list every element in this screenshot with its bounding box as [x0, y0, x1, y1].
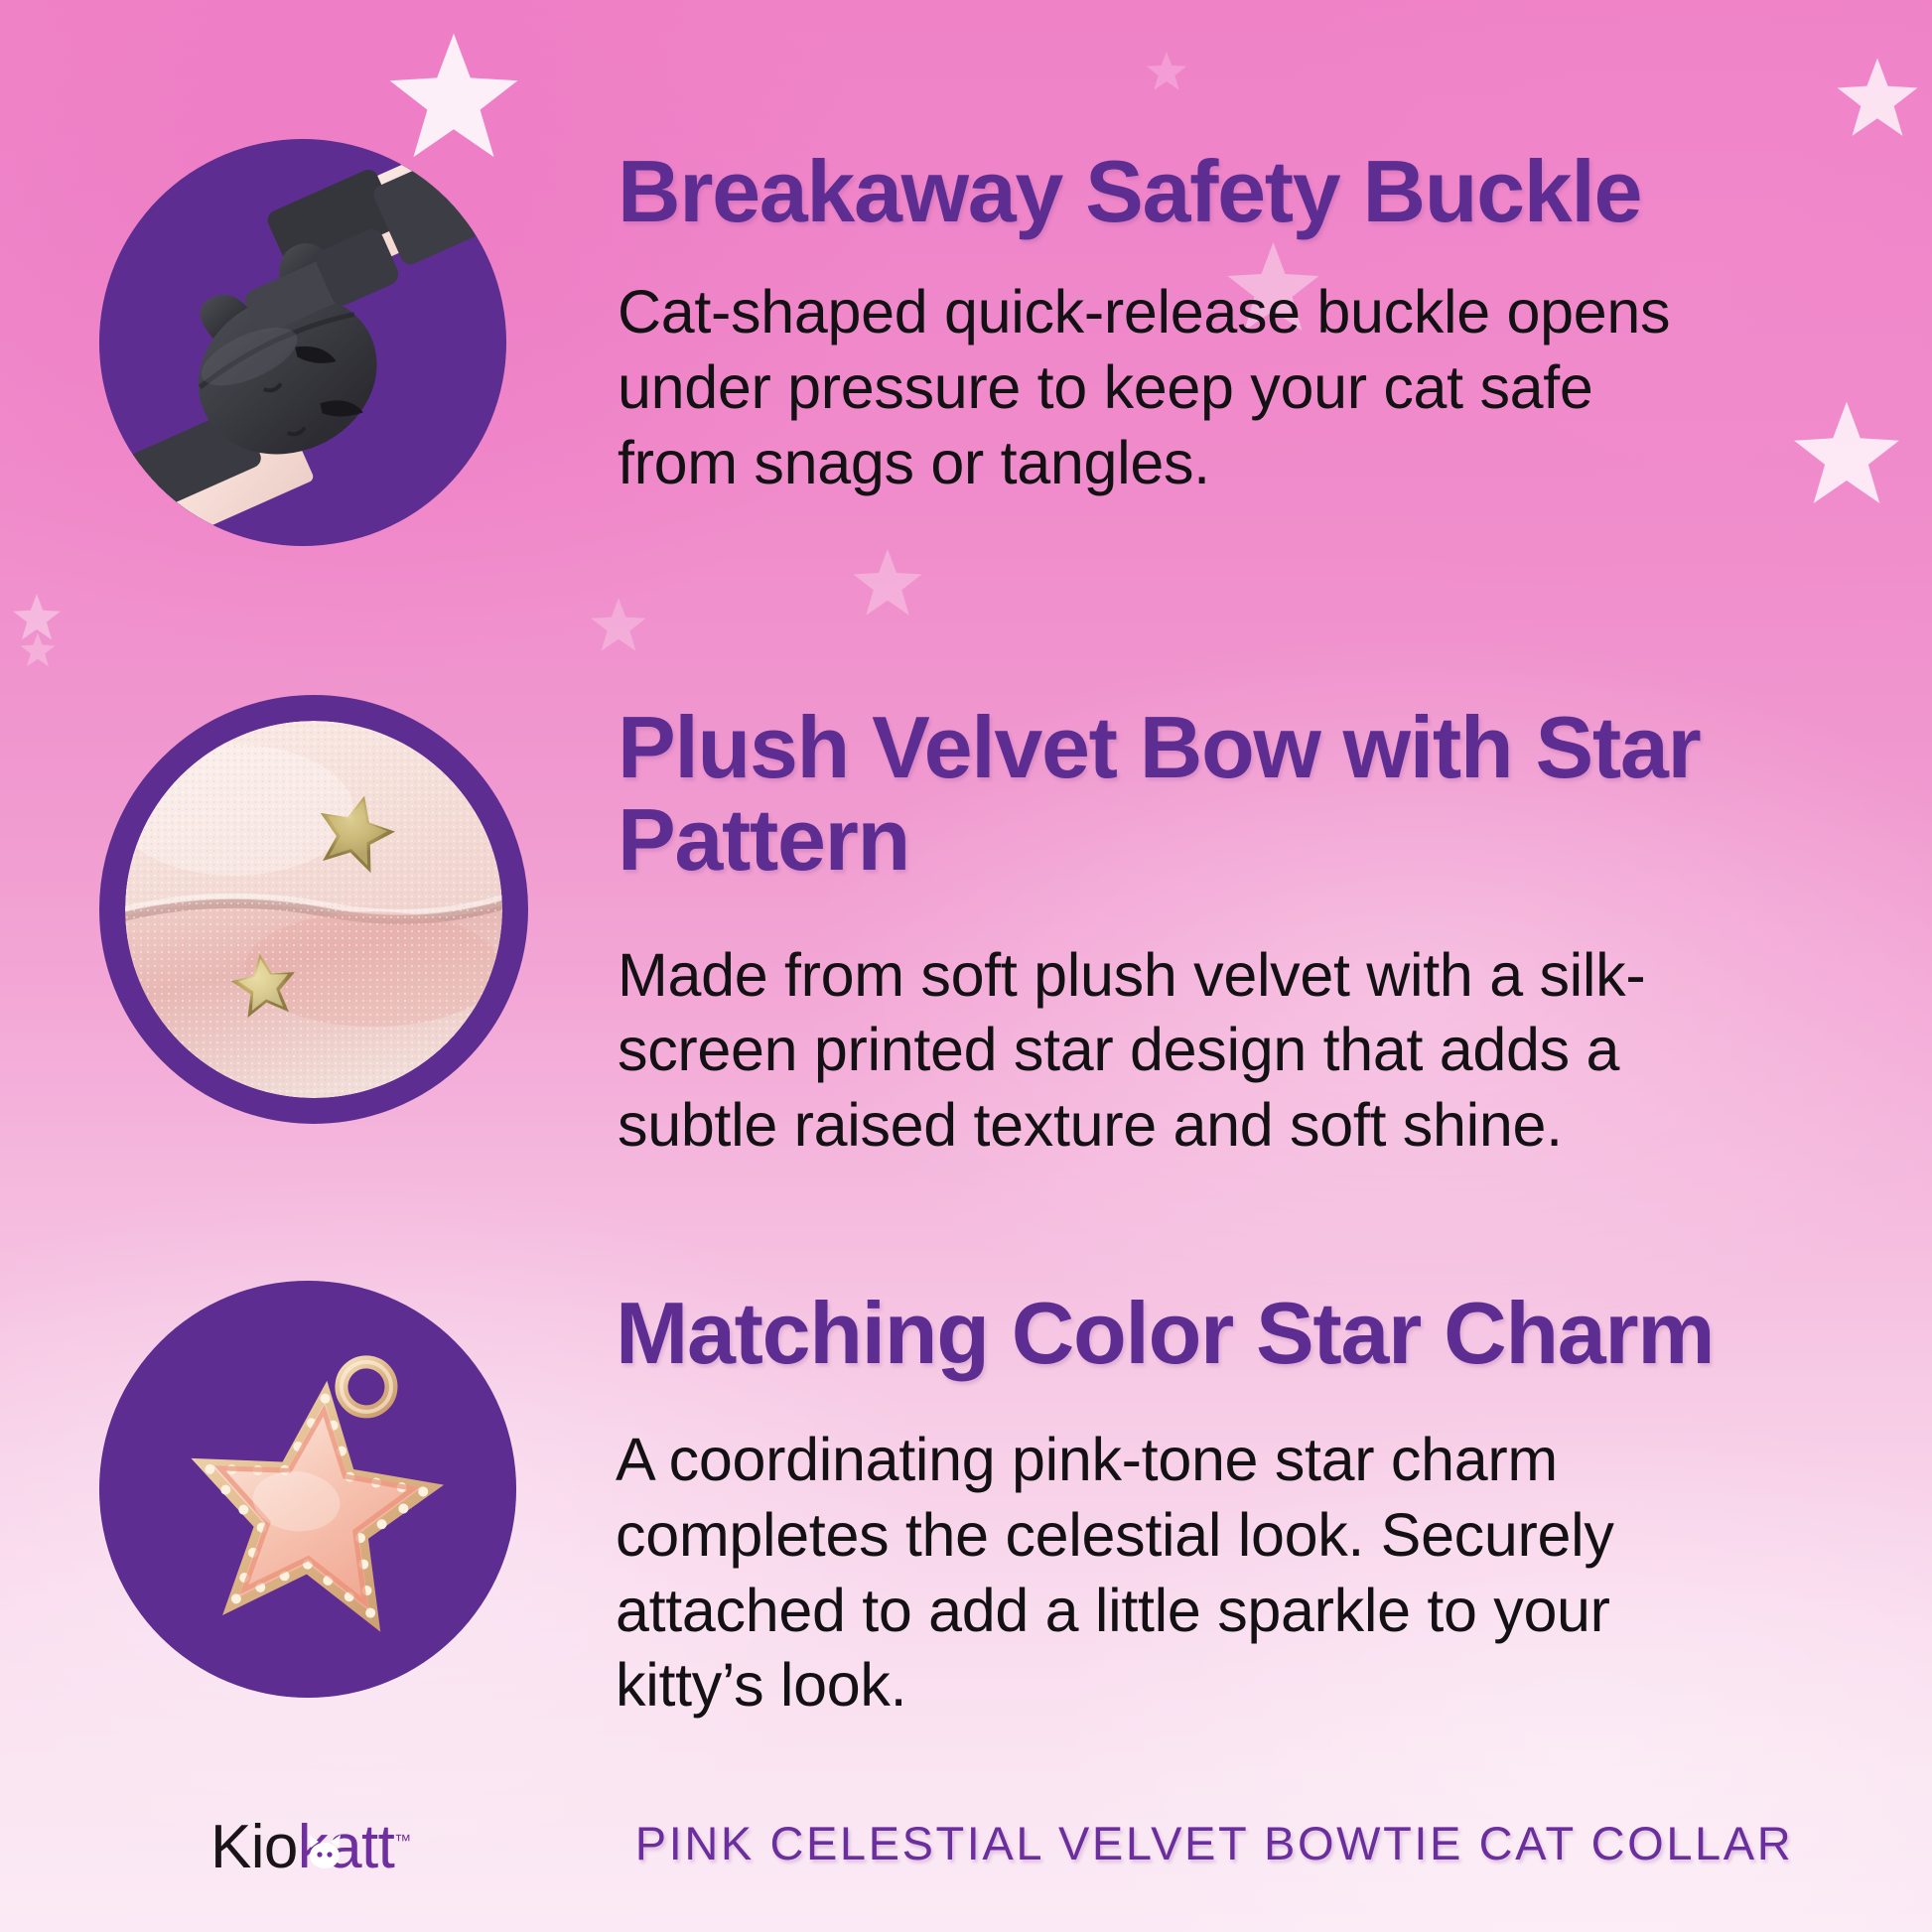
velvet-fabric-illustration [125, 721, 502, 1098]
velvet-star-fabric-photo [99, 695, 528, 1124]
feature-heading: Plush Velvet Bow with Star Pattern [618, 701, 1839, 887]
product-feature-infographic: Breakaway Safety Buckle Cat-shaped quick… [0, 0, 1932, 1932]
brand-logo[interactable]: Kiokatt™ [210, 1817, 411, 1878]
feature-body: Cat-shaped quick-release buckle opens un… [618, 275, 1710, 500]
star-sparkle-icon [1832, 55, 1923, 142]
feature-heading: Breakaway Safety Buckle [618, 145, 1839, 237]
product-tagline: PINK CELESTIAL VELVET BOWTIE CAT COLLAR [556, 1816, 1872, 1870]
feature-body: Made from soft plush velvet with a silk-… [618, 938, 1710, 1164]
star-sparkle-icon [18, 631, 58, 669]
feature-section-3: Matching Color Star Charm A coordinating… [99, 1281, 1886, 1724]
star-sparkle-icon [588, 596, 649, 655]
cat-face-icon [304, 1832, 345, 1871]
star-sparkle-icon [1144, 50, 1189, 93]
feature-copy-2: Plush Velvet Bow with Star Pattern Made … [618, 695, 1839, 1163]
buckle-illustration [99, 139, 506, 546]
trademark-symbol: ™ [394, 1831, 411, 1850]
brand-name-part1: Kio [210, 1813, 298, 1881]
feature-copy-3: Matching Color Star Charm A coordinating… [616, 1281, 1857, 1724]
star-charm-photo [99, 1281, 516, 1698]
feature-section-1: Breakaway Safety Buckle Cat-shaped quick… [99, 139, 1886, 546]
feature-copy-1: Breakaway Safety Buckle Cat-shaped quick… [618, 139, 1839, 500]
star-sparkle-icon [10, 592, 64, 643]
breakaway-buckle-photo [99, 139, 506, 546]
feature-section-2: Plush Velvet Bow with Star Pattern Made … [99, 695, 1886, 1163]
footer: Kiokatt™ PINK CELESTIAL VELVET BOWTIE CA… [0, 1743, 1932, 1932]
star-charm-illustration [99, 1281, 516, 1698]
star-sparkle-icon [849, 546, 926, 621]
feature-body: A coordinating pink-tone star charm comp… [616, 1423, 1718, 1724]
feature-heading: Matching Color Star Charm [616, 1287, 1857, 1379]
